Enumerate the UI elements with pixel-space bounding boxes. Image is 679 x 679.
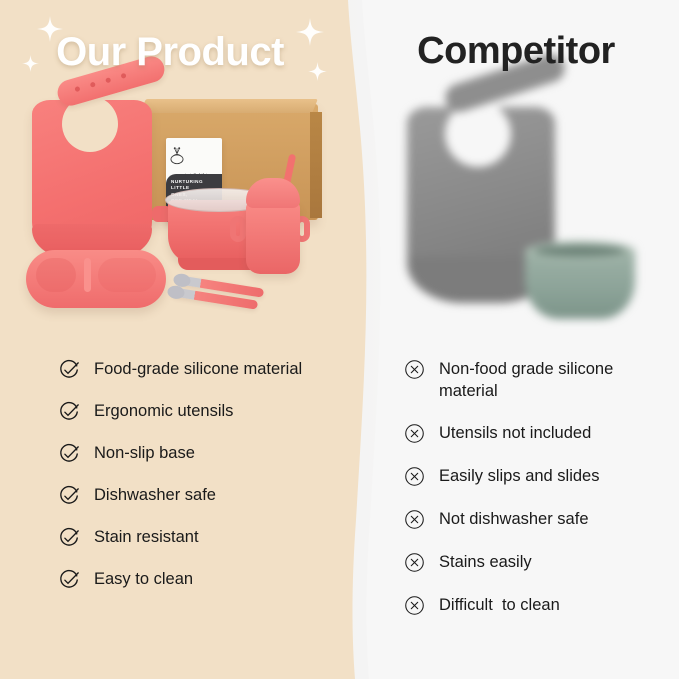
feature-label: Food-grade silicone material — [94, 358, 302, 380]
feature-label: Stains easily — [439, 551, 532, 573]
brand-logo-icon — [166, 145, 188, 167]
feature-item: Stains easily — [404, 551, 666, 574]
feature-item: Non-food grade silicone material — [404, 358, 666, 402]
x-circle-icon — [404, 552, 426, 574]
plate-divider — [84, 258, 91, 292]
x-circle-icon — [404, 595, 426, 617]
competitor-bowl-rim — [525, 241, 635, 261]
competitor-feature-list: Non-food grade silicone material Utensil… — [404, 358, 666, 637]
competitor-photo — [395, 95, 679, 340]
our-product-feature-list: Food-grade silicone material Ergonomic u… — [58, 358, 328, 610]
plate-well-small — [36, 258, 76, 292]
feature-label: Ergonomic utensils — [94, 400, 233, 422]
check-circle-icon — [58, 359, 80, 381]
feature-item: Dishwasher safe — [58, 484, 328, 507]
competitor-photo-blur-layer — [395, 95, 679, 340]
feature-item: Not dishwasher safe — [404, 508, 666, 531]
sippy-cup-lid — [246, 178, 300, 208]
feature-item: Utensils not included — [404, 422, 666, 445]
feature-label: Easy to clean — [94, 568, 193, 590]
feature-item: Difficult to clean — [404, 594, 666, 617]
x-circle-icon — [404, 359, 426, 381]
our-product-title: Our Product — [0, 30, 340, 75]
feature-label: Easily slips and slides — [439, 465, 600, 487]
check-circle-icon — [58, 443, 80, 465]
feature-label: Stain resistant — [94, 526, 199, 548]
feature-item: Ergonomic utensils — [58, 400, 328, 423]
competitor-title: Competitor — [356, 30, 676, 73]
feature-item: Food-grade silicone material — [58, 358, 328, 381]
our-product-photo: mimi & bibi NURTURING LITTLE ONES, ONE M… — [18, 90, 348, 340]
x-circle-icon — [404, 423, 426, 445]
feature-item: Stain resistant — [58, 526, 328, 549]
comparison-infographic: Our Product Competitor mimi & bibi NURTU… — [0, 0, 679, 679]
sippy-cup-handle-left — [230, 216, 246, 242]
check-circle-icon — [58, 569, 80, 591]
x-circle-icon — [404, 466, 426, 488]
feature-item: Easily slips and slides — [404, 465, 666, 488]
x-circle-icon — [404, 509, 426, 531]
check-circle-icon — [58, 527, 80, 549]
sippy-cup-body — [246, 202, 300, 274]
check-circle-icon — [58, 485, 80, 507]
feature-label: Non-slip base — [94, 442, 195, 464]
feature-label: Dishwasher safe — [94, 484, 216, 506]
silicone-divided-plate — [26, 250, 166, 308]
check-circle-icon — [58, 401, 80, 423]
feature-label: Non-food grade silicone material — [439, 358, 666, 402]
feature-item: Non-slip base — [58, 442, 328, 465]
plate-well-large — [98, 258, 156, 292]
silicone-bib — [32, 100, 152, 260]
kraft-gift-box-lid — [140, 99, 318, 113]
feature-label: Utensils not included — [439, 422, 591, 444]
kraft-gift-box-side — [310, 112, 322, 218]
feature-label: Difficult to clean — [439, 594, 560, 616]
feature-label: Not dishwasher safe — [439, 508, 589, 530]
feature-item: Easy to clean — [58, 568, 328, 591]
